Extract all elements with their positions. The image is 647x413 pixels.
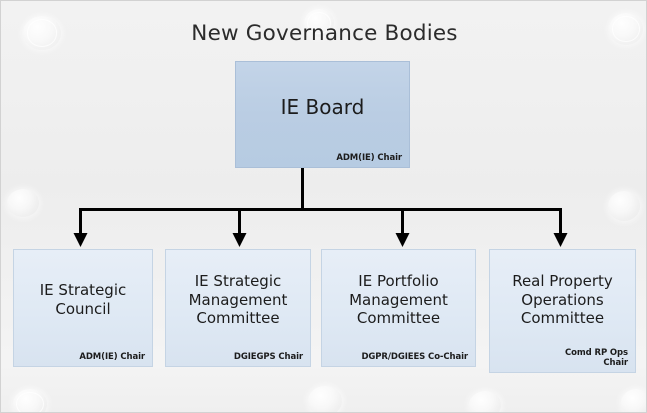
- arrowhead-down-icon: [233, 233, 247, 247]
- org-node-real-property-operations-committee[interactable]: Real Property Operations Committee Comd …: [489, 249, 636, 373]
- decorative-bubble-icon: [7, 189, 39, 217]
- org-node-ie-strategic-council[interactable]: IE Strategic Council ADM(IE) Chair: [13, 249, 153, 367]
- arrowhead-down-icon: [74, 233, 88, 247]
- decorative-bubble-icon: [13, 389, 47, 413]
- org-node-title-line: Committee: [521, 309, 604, 327]
- arrowhead-down-icon: [554, 233, 568, 247]
- org-node-title-line: Committee: [357, 309, 440, 327]
- org-node-chair-line: DGPR/DGIEES Co-Chair: [361, 352, 468, 362]
- org-node-title: IE Strategic Management Committee: [166, 272, 310, 344]
- org-node-title-line: Operations: [521, 291, 603, 309]
- org-node-chair-line: DGIEGPS Chair: [234, 352, 303, 362]
- arrowhead-down-icon: [396, 233, 410, 247]
- org-node-chair-label: DGPR/DGIEES Co-Chair: [361, 352, 468, 362]
- org-node-title-line: Council: [55, 300, 110, 318]
- org-node-chair-label: DGIEGPS Chair: [234, 352, 303, 362]
- org-node-ie-board[interactable]: IE Board ADM(IE) Chair: [235, 61, 410, 168]
- decorative-bubble-icon: [469, 391, 501, 413]
- org-node-chair-line: Comd RP Ops: [565, 348, 628, 358]
- org-node-chair-line: Chair: [603, 358, 628, 368]
- org-node-ie-strategic-management-committee[interactable]: IE Strategic Management Committee DGIEGP…: [165, 249, 311, 367]
- org-node-title-line: IE Strategic: [195, 272, 281, 290]
- slide-canvas: New Governance Bodies IE Board ADM(IE) C…: [0, 0, 647, 413]
- org-node-title-line: IE Strategic: [40, 281, 126, 299]
- org-node-title: IE Portfolio Management Committee: [322, 272, 475, 344]
- org-node-chair-label: ADM(IE) Chair: [79, 352, 145, 362]
- decorative-bubble-icon: [608, 191, 640, 221]
- org-node-chair-line: ADM(IE) Chair: [79, 352, 145, 362]
- org-node-title: IE Strategic Council: [14, 281, 152, 334]
- page-title: New Governance Bodies: [1, 21, 647, 46]
- org-node-chair-label: Comd RP Ops Chair: [565, 348, 628, 368]
- org-node-title-line: Management: [349, 291, 448, 309]
- connector-arrowheads: [74, 233, 568, 247]
- decorative-bubble-icon: [308, 386, 342, 413]
- org-node-ie-portfolio-management-committee[interactable]: IE Portfolio Management Committee DGPR/D…: [321, 249, 476, 367]
- decorative-bubble-icon: [621, 389, 647, 413]
- org-node-title: IE Board: [236, 95, 409, 134]
- org-node-title: Real Property Operations Committee: [490, 272, 635, 350]
- org-node-title-line: Committee: [196, 309, 279, 327]
- org-node-title-line: Management: [189, 291, 288, 309]
- org-node-title-line: IE Portfolio: [358, 272, 438, 290]
- org-node-title-line: Real Property: [512, 272, 613, 290]
- org-node-chair-label: ADM(IE) Chair: [336, 153, 402, 163]
